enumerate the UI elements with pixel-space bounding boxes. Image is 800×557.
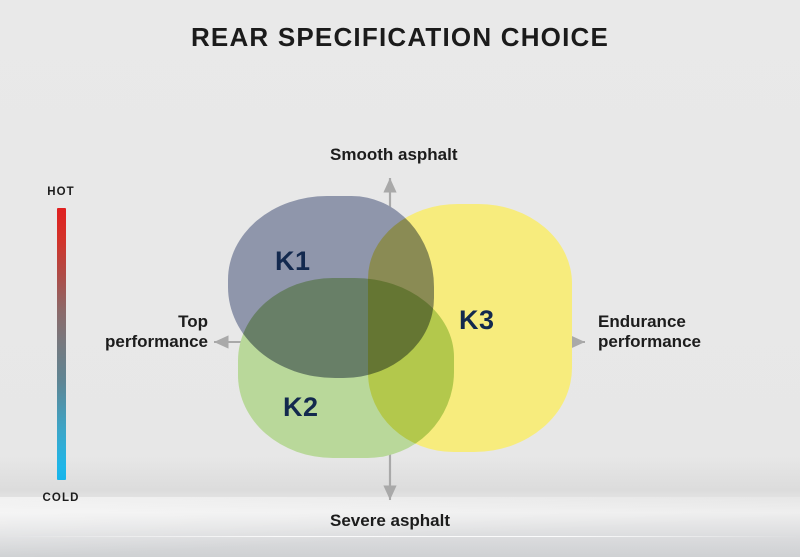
axis-label-endurance-performance-line1: Endurance bbox=[598, 312, 778, 332]
axis-label-severe-asphalt: Severe asphalt bbox=[330, 511, 510, 531]
page-title: REAR SPECIFICATION CHOICE bbox=[0, 22, 800, 53]
region-label-k1: K1 bbox=[275, 246, 311, 277]
slide-canvas: REAR SPECIFICATION CHOICE HOT COLD K1 K2… bbox=[0, 0, 800, 557]
gauge-cold-label: COLD bbox=[34, 492, 88, 504]
floor-highlight-line bbox=[0, 536, 800, 537]
region-label-k2: K2 bbox=[283, 392, 319, 423]
axis-label-endurance-performance-line2: performance bbox=[598, 332, 778, 352]
axis-label-top-performance: Top performance bbox=[60, 312, 208, 351]
region-blob-group bbox=[228, 196, 568, 458]
axis-label-endurance-performance: Endurance performance bbox=[598, 312, 778, 351]
axis-label-smooth-asphalt: Smooth asphalt bbox=[330, 145, 500, 165]
gauge-hot-label: HOT bbox=[34, 186, 88, 198]
region-label-k3: K3 bbox=[459, 305, 495, 336]
axis-label-top-performance-line1: Top bbox=[60, 312, 208, 332]
axis-label-top-performance-line2: performance bbox=[60, 332, 208, 352]
